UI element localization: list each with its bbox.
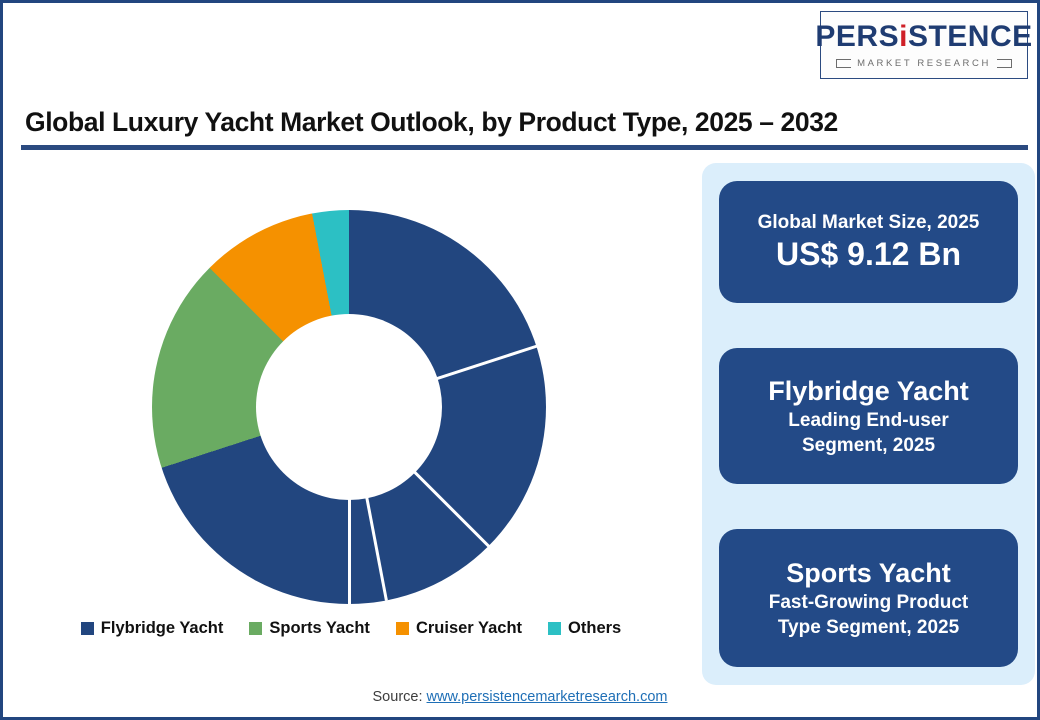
logo-wordmark-part1: PERS <box>815 20 899 53</box>
chart-legend: Flybridge Yacht Sports Yacht Cruiser Yac… <box>13 619 689 638</box>
legend-item-sports-yacht: Sports Yacht <box>249 619 370 638</box>
fastest-segment-caption-line2: Type Segment, 2025 <box>778 615 959 640</box>
fastest-segment-caption-line1: Fast-Growing Product <box>769 590 969 615</box>
logo-bracket-left-icon <box>836 59 851 68</box>
leading-segment-caption-line2: Segment, 2025 <box>802 433 935 458</box>
donut-chart: Flybridge Yacht Sports Yacht Cruiser Yac… <box>13 163 689 663</box>
legend-label-flybridge-yacht: Flybridge Yacht <box>101 619 224 638</box>
legend-item-flybridge-yacht: Flybridge Yacht <box>81 619 224 638</box>
legend-swatch-cruiser-yacht <box>396 622 409 635</box>
donut-center-hole <box>256 314 442 500</box>
legend-label-cruiser-yacht: Cruiser Yacht <box>416 619 522 638</box>
legend-item-others: Others <box>548 619 621 638</box>
source-label: Source: <box>373 689 423 705</box>
leading-segment-caption-line1: Leading End-user <box>788 408 948 433</box>
legend-swatch-sports-yacht <box>249 622 262 635</box>
legend-item-cruiser-yacht: Cruiser Yacht <box>396 619 522 638</box>
logo-tagline-row: MARKET RESEARCH <box>836 58 1012 69</box>
donut-chart-graphic <box>152 210 546 604</box>
legend-swatch-flybridge-yacht <box>81 622 94 635</box>
stat-card-leading-segment: Flybridge Yacht Leading End-user Segment… <box>719 348 1018 484</box>
logo-wordmark-accent-i: i <box>899 20 908 53</box>
infographic-page: PERSiSTENCE MARKET RESEARCH Global Luxur… <box>0 0 1040 720</box>
market-size-label: Global Market Size, 2025 <box>758 210 980 235</box>
market-size-value: US$ 9.12 Bn <box>776 235 961 274</box>
legend-label-others: Others <box>568 619 621 638</box>
company-logo: PERSiSTENCE MARKET RESEARCH <box>820 11 1028 79</box>
title-divider <box>21 145 1028 150</box>
logo-wordmark-part2: STENCE <box>908 20 1033 53</box>
highlights-panel: Global Market Size, 2025 US$ 9.12 Bn Fly… <box>702 163 1035 685</box>
logo-wordmark: PERSiSTENCE <box>815 22 1032 52</box>
legend-label-sports-yacht: Sports Yacht <box>269 619 370 638</box>
page-title: Global Luxury Yacht Market Outlook, by P… <box>25 107 838 138</box>
legend-swatch-others <box>548 622 561 635</box>
logo-tagline: MARKET RESEARCH <box>851 58 997 69</box>
stat-card-market-size: Global Market Size, 2025 US$ 9.12 Bn <box>719 181 1018 303</box>
stat-card-fastest-growing-segment: Sports Yacht Fast-Growing Product Type S… <box>719 529 1018 667</box>
fastest-segment-name: Sports Yacht <box>786 556 951 591</box>
logo-bracket-right-icon <box>997 59 1012 68</box>
source-link[interactable]: www.persistencemarketresearch.com <box>427 689 668 705</box>
leading-segment-name: Flybridge Yacht <box>768 374 969 409</box>
source-line: Source: www.persistencemarketresearch.co… <box>3 689 1037 705</box>
